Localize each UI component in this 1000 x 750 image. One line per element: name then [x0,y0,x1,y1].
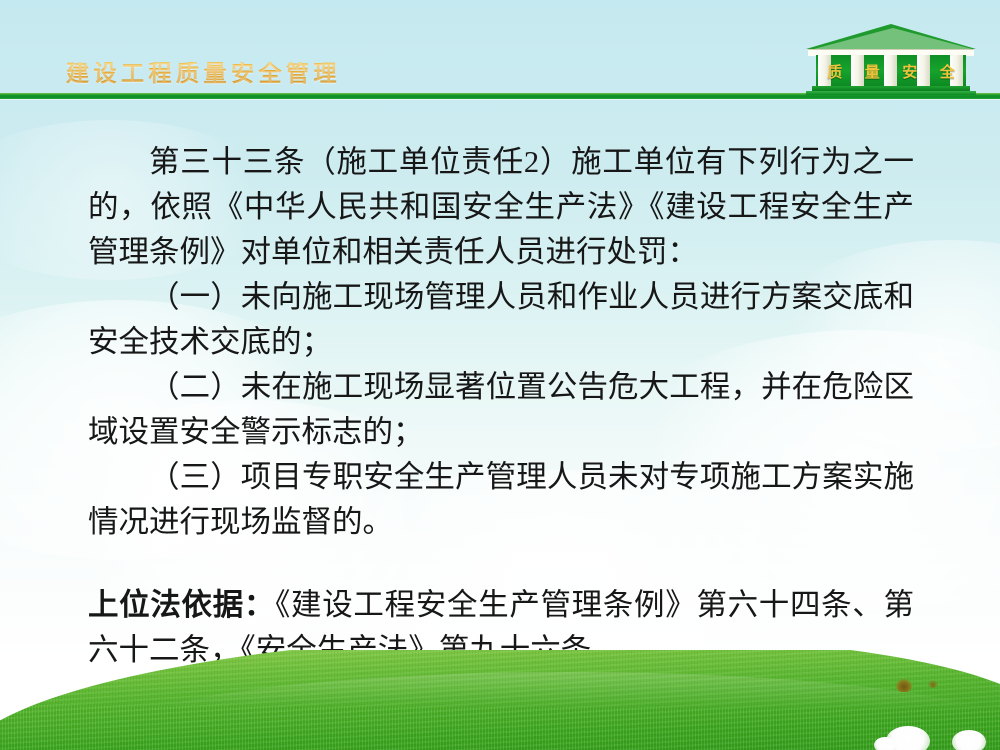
distant-tree-icon [896,679,912,692]
distant-tree-icon [928,680,938,688]
white-flower-icon [886,726,930,750]
clause-item-3: （三）项目专职安全生产管理人员未对专项施工方案实施情况进行现场监督的。 [88,455,914,545]
emblem-char-4: 全 [940,61,955,82]
slide-canvas: 建设工程质量安全管理 质 量 安 全 第三十三条（施工单位责任2）施工单位有下列… [0,0,1000,750]
white-flower-icon [952,730,986,750]
emblem-char-2: 量 [865,61,880,82]
article-heading-paragraph: 第三十三条（施工单位责任2）施工单位有下列行为之一的，依照《中华人民共和国安全生… [88,140,914,275]
emblem-roof-highlight [810,28,976,50]
quality-safety-emblem-icon: 质 量 安 全 [806,24,976,94]
emblem-char-3: 安 [902,61,917,82]
paragraph-spacer [88,545,914,583]
emblem-char-1: 质 [827,61,842,82]
legal-basis-label: 上位法依据： [88,588,275,622]
emblem-label: 质 量 安 全 [816,60,966,82]
page-title: 建设工程质量安全管理 [66,62,341,85]
emblem-plinth [806,91,976,95]
grass-decoration [0,650,1000,750]
slide-body-content: 第三十三条（施工单位责任2）施工单位有下列行为之一的，依照《中华人民共和国安全生… [88,140,914,673]
clause-item-1: （一）未向施工现场管理人员和作业人员进行方案交底和安全技术交底的； [88,275,914,365]
clause-item-2: （二）未在施工现场显著位置公告危大工程，并在危险区域设置安全警示标志的； [88,365,914,455]
